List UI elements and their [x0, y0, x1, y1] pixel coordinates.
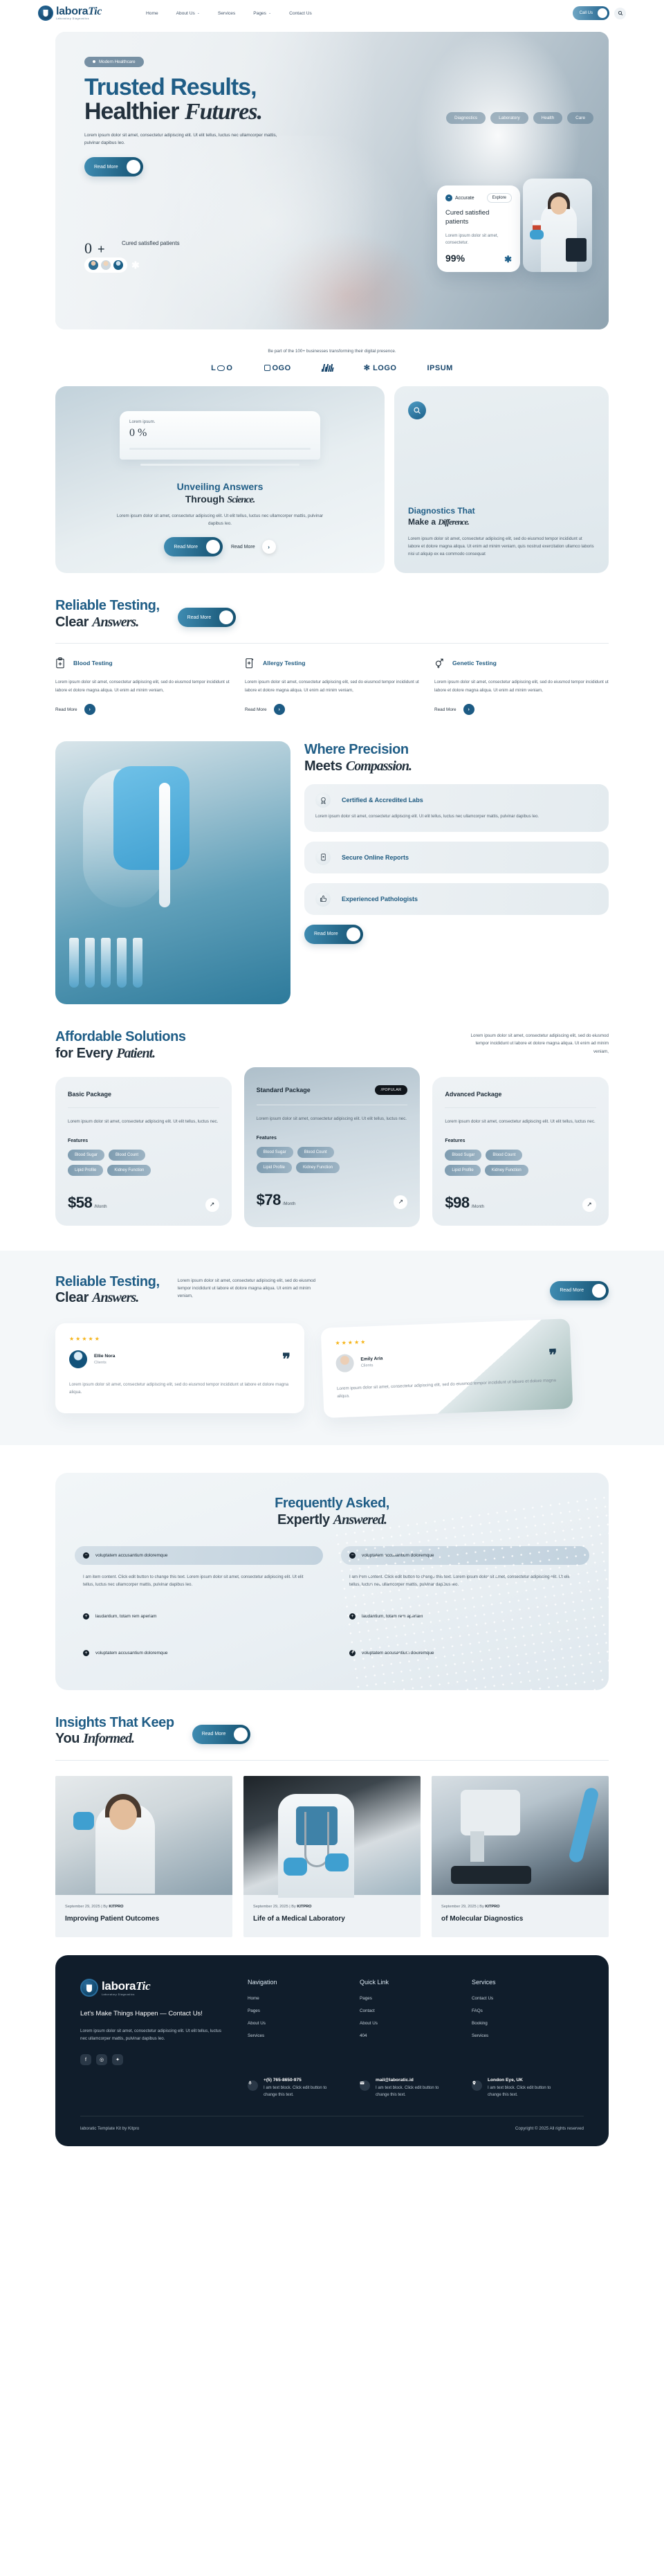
footer-link[interactable]: About Us: [360, 2021, 451, 2026]
nav-label: Contact Us: [289, 11, 312, 16]
plan-name: Basic Package: [68, 1091, 111, 1098]
divider: [68, 1107, 219, 1108]
plus-icon: +: [349, 1613, 356, 1620]
search-icon-badge: [408, 401, 426, 419]
plan-chips: Blood Sugar Blood Count Lipid Profile Ki…: [445, 1150, 559, 1176]
service-card-genetic-testing[interactable]: Genetic Testing Lorem ipsum dolor sit am…: [434, 657, 609, 715]
plan-desc: Lorem ipsum dolor sit amet, consectetur …: [68, 1118, 219, 1125]
testimonial-name: Emily Aria: [360, 1356, 382, 1361]
plan-footer: $78/Month ↗: [257, 1191, 408, 1209]
footer-link[interactable]: Pages: [248, 2008, 339, 2013]
hero-avatars: ✱: [84, 257, 180, 273]
logo-seal-icon: [38, 6, 53, 21]
footer-column-title: Quick Link: [360, 1979, 451, 1986]
faq-question-closed[interactable]: + voluptatem accusantium doloremque: [75, 1644, 323, 1662]
faq-title: Frequently Asked, Expertly Answered.: [75, 1495, 589, 1528]
hero-stat-number: 0: [84, 239, 92, 257]
mail-icon: [360, 2080, 370, 2091]
plan-footer: $58/Month ↗: [68, 1194, 219, 1212]
services-title-line2a: Clear: [55, 615, 92, 630]
search-button[interactable]: [614, 8, 626, 19]
brand-logo-3: [322, 364, 333, 372]
faq-question-closed[interactable]: + laudantium, totam rem aperiam: [341, 1607, 589, 1626]
testimonial-person: Ellie Nora Clients ❞: [69, 1350, 290, 1368]
blog-body: September 29, 2025 | By KITPRO Improving…: [55, 1895, 232, 1938]
faq-question-label: voluptatem accusantium doloremque: [362, 1553, 434, 1558]
accurate-card-percent: 99%: [445, 253, 465, 264]
minus-icon: −: [349, 1552, 356, 1559]
mini-panel-label: Lorem ipsum.: [129, 419, 311, 424]
document-plus-icon: [245, 657, 255, 669]
accurate-card-footer: 99% ✱: [445, 253, 512, 264]
testimonials-container: Reliable Testing, Clear Answers. Lorem i…: [55, 1274, 609, 1413]
faq-question-label: voluptatem accusantium doloremque: [95, 1651, 167, 1656]
nav-item-services[interactable]: Services: [218, 11, 235, 16]
image-microscope-arm: [470, 1831, 484, 1862]
hero-title-line2a: Healthier: [84, 98, 185, 125]
plan-price: $98: [445, 1194, 469, 1212]
mini-panel-value: 0 %: [129, 427, 311, 439]
logo[interactable]: laboraTic Laboratory Diagnostics: [38, 6, 102, 21]
button-label: Read More: [55, 707, 77, 712]
blog-list: September 29, 2025 | By KITPRO Improving…: [55, 1776, 609, 1938]
hero-tag-care[interactable]: Care: [567, 112, 593, 124]
faq-header: Frequently Asked, Expertly Answered.: [75, 1495, 589, 1528]
hero-tag-laboratory[interactable]: Laboratory: [490, 112, 528, 124]
plus-icon: +: [349, 1650, 356, 1656]
footer-link[interactable]: FAQs: [472, 2008, 563, 2013]
divider: [445, 1107, 596, 1108]
services-header: Reliable Testing, Clear Answers. Read Mo…: [55, 598, 609, 631]
footer-link[interactable]: Contact Us: [472, 1996, 563, 2001]
blog-image: [243, 1776, 421, 1895]
accurate-badge: ⌖ Accurate: [445, 194, 474, 201]
minus-icon: −: [83, 1552, 89, 1559]
footer-contacts: +(5) 765-8650-975 I am text block. Click…: [80, 2078, 584, 2099]
logo-tagline: Laboratory Diagnostics: [56, 18, 102, 20]
footer-socials: f ◎ ✦: [80, 2054, 227, 2065]
blog-card[interactable]: September 29, 2025 | By KITPRO of Molecu…: [432, 1776, 609, 1938]
pricing-title-line1: Affordable Solutions: [55, 1029, 186, 1044]
blog-title-line2a: You: [55, 1731, 83, 1746]
rating-stars: ★★★★★: [69, 1336, 290, 1342]
hero-title-line2b: Futures.: [185, 99, 262, 125]
testimonials-title-line2a: Clear: [55, 1290, 92, 1305]
call-us-button[interactable]: Call Us ›: [573, 6, 609, 20]
logo-name-main: labora: [56, 6, 88, 17]
precision-section: Where Precision Meets Compassion. Certif…: [55, 741, 609, 1004]
plan-price-row: $98/Month: [445, 1194, 484, 1212]
services-title: Reliable Testing, Clear Answers.: [55, 598, 160, 631]
faq-question-closed[interactable]: + voluptatem accusantium doloremque: [341, 1644, 589, 1662]
services-list: Blood Testing Lorem ipsum dolor sit amet…: [55, 657, 609, 715]
button-label: Read More: [231, 545, 255, 550]
blog-read-more-button[interactable]: Read More ›: [192, 1725, 251, 1744]
faq-question-closed[interactable]: + laudantium, totam rem aperiam: [75, 1607, 323, 1626]
plan-features-label: Features: [445, 1139, 596, 1143]
button-label: Read More: [187, 615, 212, 620]
diagnostics-card: Diagnostics That Make a Difference. Lore…: [394, 386, 609, 573]
arrow-right-icon: ›: [598, 8, 607, 18]
rating-stars: ★★★★★: [335, 1332, 556, 1346]
arrow-right-icon: ›: [219, 610, 233, 624]
footer-column-quick-link: Quick Link Pages Contact About Us 404: [360, 1979, 451, 2065]
hero-stat-plus: +: [98, 242, 105, 257]
footer-link[interactable]: Pages: [360, 1996, 451, 2001]
footer-link[interactable]: 404: [360, 2033, 451, 2038]
blog-card[interactable]: September 29, 2025 | By KITPRO Improving…: [55, 1776, 232, 1938]
brand-logo-4: ✻ LOGO: [364, 363, 397, 372]
blog-date: September 29, 2025: [253, 1905, 288, 1909]
photo-glove: [530, 230, 544, 239]
testimonials-lead: Lorem ipsum dolor sit amet, consectetur …: [178, 1274, 326, 1300]
logo-wordmark: laboraTic: [56, 6, 102, 17]
pricing-card-standard[interactable]: Standard Package /POPULAR Lorem ipsum do…: [244, 1067, 421, 1226]
plan-arrow-button[interactable]: ↗: [394, 1195, 407, 1209]
precision-image: [55, 741, 290, 1004]
footer-logo[interactable]: laboraTic Laboratory Diagnostics: [80, 1979, 227, 1997]
testimonial-card: ★★★★★ Emily Aria Clients ❞ Lorem ipsum d…: [321, 1318, 573, 1418]
footer-top: laboraTic Laboratory Diagnostics Let's M…: [80, 1979, 584, 2065]
footer-wordmark: laboraTic: [102, 1980, 150, 1992]
plan-desc: Lorem ipsum dolor sit amet, consectetur …: [257, 1115, 408, 1123]
footer-link[interactable]: Home: [248, 1996, 339, 2001]
faq-column-right: − voluptatem accusantium doloremque I am…: [341, 1546, 589, 1662]
brand-logo-5: IPSUM: [427, 364, 452, 372]
instagram-icon[interactable]: ◎: [96, 2054, 107, 2065]
plan-price: $58: [68, 1194, 92, 1212]
pricing-plans: Basic Package Lorem ipsum dolor sit amet…: [55, 1077, 609, 1226]
plan-price-row: $78/Month: [257, 1191, 296, 1209]
service-title: Allergy Testing: [263, 660, 305, 666]
contact-note: I am text block. Click edit button to ch…: [264, 2085, 339, 2099]
service-text: Lorem ipsum dolor sit amet, consectetur …: [55, 678, 230, 694]
twitter-icon[interactable]: ✦: [112, 2054, 123, 2065]
services-title-line1: Reliable Testing,: [55, 598, 160, 613]
logo-name-italic: Tic: [88, 6, 102, 17]
pricing-section: Affordable Solutions for Every Patient. …: [55, 1029, 609, 1226]
hero-read-more-button[interactable]: Read More ›: [84, 157, 143, 176]
precision-feature-reports[interactable]: Secure Online Reports: [304, 842, 609, 873]
faq-question-label: laudantium, totam rem aperiam: [95, 1614, 156, 1619]
explore-button[interactable]: Explore: [487, 193, 512, 203]
footer-contact-phone: +(5) 765-8650-975 I am text block. Click…: [248, 2078, 339, 2099]
blog-post-title[interactable]: Improving Patient Outcomes: [65, 1915, 223, 1924]
services-section: Reliable Testing, Clear Answers. Read Mo…: [55, 598, 609, 715]
testimonial-identity: Emily Aria Clients: [360, 1356, 383, 1368]
badge-dot-icon: [93, 60, 95, 63]
plan-arrow-button[interactable]: ↗: [582, 1198, 596, 1212]
service-header: Allergy Testing: [245, 657, 419, 669]
accurate-card-heading: Cured satisfied patients: [445, 209, 512, 227]
pricing-title: Affordable Solutions for Every Patient.: [55, 1029, 186, 1062]
unveiling-title: Unveiling Answers Through Science.: [72, 481, 368, 506]
image-face: [109, 1799, 137, 1830]
plan-chip: Kidney Function: [107, 1165, 151, 1176]
brand-logos-caption: Be part of the 100+ businesses transform…: [55, 349, 609, 354]
mobile-report-icon: [315, 850, 331, 865]
diagnostics-title: Diagnostics That Make a Difference.: [408, 506, 595, 527]
service-read-more[interactable]: Read More›: [245, 704, 419, 715]
quote-icon: ❞: [548, 1350, 557, 1360]
faq-column-left: − voluptatem accusantium doloremque I am…: [75, 1546, 323, 1662]
service-card-allergy-testing[interactable]: Allergy Testing Lorem ipsum dolor sit am…: [245, 657, 419, 715]
stat-mini-panel: Lorem ipsum. 0 %: [120, 411, 320, 460]
unveiling-title-line2b: Science.: [227, 495, 255, 505]
feature-header: Certified & Accredited Labs: [315, 792, 598, 808]
accurate-card-header: ⌖ Accurate Explore: [445, 193, 512, 203]
feature-title: Secure Online Reports: [342, 854, 409, 861]
button-label: Read More: [314, 932, 338, 936]
pricing-title-line2b: Patient.: [116, 1046, 155, 1061]
blog-post-title[interactable]: of Molecular Diagnostics: [441, 1915, 599, 1924]
testimonial-card: ★★★★★ Ellie Nora Clients ❞ Lorem ipsum d…: [55, 1323, 304, 1413]
hero-tag-health[interactable]: Health: [533, 112, 562, 124]
plan-arrow-button[interactable]: ↗: [205, 1198, 219, 1212]
service-header: Blood Testing: [55, 657, 230, 669]
footer-column-navigation: Navigation Home Pages About Us Services: [248, 1979, 339, 2065]
image-glove-left: [284, 1858, 307, 1876]
blog-author: KITPRO: [485, 1905, 499, 1909]
logo-text: laboraTic Laboratory Diagnostics: [56, 6, 102, 20]
service-read-more[interactable]: Read More›: [55, 704, 230, 715]
plan-chip: Kidney Function: [485, 1165, 528, 1176]
hero-scientist-photo: [523, 179, 592, 272]
plan-chip: Blood Count: [486, 1150, 522, 1161]
logo-seal-icon: [80, 1979, 98, 1997]
asterisk-icon: ✱: [504, 255, 512, 264]
faq-question-open[interactable]: − voluptatem accusantium doloremque: [341, 1546, 589, 1565]
service-text: Lorem ipsum dolor sit amet, consectetur …: [245, 678, 419, 694]
footer-tagline: Laboratory Diagnostics: [102, 1993, 150, 1996]
diagnostics-title-line2a: Make a: [408, 517, 438, 527]
testimonials-header: Reliable Testing, Clear Answers. Lorem i…: [55, 1274, 609, 1307]
main-nav: Home About Us⌄ Services Pages⌄ Contact U…: [146, 11, 312, 16]
blog-title-line2b: Informed.: [83, 1731, 134, 1746]
testimonials-list: ★★★★★ Ellie Nora Clients ❞ Lorem ipsum d…: [55, 1323, 609, 1413]
pricing-card-advanced[interactable]: Advanced Package Lorem ipsum dolor sit a…: [432, 1077, 609, 1225]
button-label: Read More: [202, 1732, 226, 1736]
hero-tag-diagnostics[interactable]: Diagnostics: [446, 112, 486, 124]
services-title-line2b: Answers.: [92, 615, 138, 630]
blog-section: Insights That Keep You Informed. Read Mo…: [55, 1715, 609, 1938]
contact-body: London Eye, UK I am text block. Click ed…: [488, 2078, 563, 2099]
precision-feature-pathologists[interactable]: Experienced Pathologists: [304, 883, 609, 915]
unveiling-read-more-primary[interactable]: Read More ›: [164, 537, 223, 556]
photo-face: [551, 197, 567, 215]
faq-question-label: voluptatem accusantium doloremque: [95, 1553, 167, 1558]
image-microscope-base: [451, 1866, 531, 1884]
avatar: [113, 260, 124, 271]
gender-icon: [434, 657, 444, 669]
blog-date: September 29, 2025: [441, 1905, 477, 1909]
faq-title-line2a: Expertly: [277, 1512, 333, 1527]
chevron-down-icon: ⌄: [197, 11, 200, 15]
feature-header: Experienced Pathologists: [315, 891, 598, 907]
blog-body: September 29, 2025 | By KITPRO Life of a…: [243, 1895, 421, 1938]
service-text: Lorem ipsum dolor sit amet, consectetur …: [434, 678, 609, 694]
plan-chip: Kidney Function: [296, 1162, 340, 1173]
service-read-more[interactable]: Read More›: [434, 704, 609, 715]
blog-sep: | By: [101, 1905, 109, 1909]
image-microscope-body: [461, 1790, 520, 1835]
nav-item-pages[interactable]: Pages⌄: [253, 11, 271, 16]
pricing-header: Affordable Solutions for Every Patient. …: [55, 1029, 609, 1062]
services-read-more-button[interactable]: Read More ›: [178, 608, 237, 627]
blog-meta: September 29, 2025 | By KITPRO: [253, 1905, 411, 1909]
testimonials-title-line2b: Answers.: [92, 1290, 138, 1305]
brand-logo-1: LO: [211, 364, 234, 372]
unveiling-button-row: Read More › Read More ›: [72, 537, 368, 556]
facebook-icon[interactable]: f: [80, 2054, 91, 2065]
service-title: Blood Testing: [73, 660, 113, 666]
feature-header: Secure Online Reports: [315, 850, 598, 865]
avatar-group: [84, 257, 127, 273]
testimonials-title: Reliable Testing, Clear Answers.: [55, 1274, 160, 1307]
service-header: Genetic Testing: [434, 657, 609, 669]
blog-title: Insights That Keep You Informed.: [55, 1715, 174, 1748]
testimonial-name: Ellie Nora: [94, 1354, 115, 1359]
button-label: Read More: [245, 707, 267, 712]
target-icon: ⌖: [445, 194, 452, 201]
footer-contact-location: London Eye, UK I am text block. Click ed…: [472, 2078, 563, 2099]
contact-note: I am text block. Click edit button to ch…: [376, 2085, 451, 2099]
plan-chip: Lipid Profile: [257, 1162, 292, 1173]
blog-image: [432, 1776, 609, 1895]
feature-title: Experienced Pathologists: [342, 896, 418, 902]
image-pipette: [568, 1786, 600, 1864]
brand-logo-2: OGO: [264, 364, 290, 372]
diagnostics-title-line2b: Difference.: [438, 517, 468, 527]
blog-header: Insights That Keep You Informed. Read Mo…: [55, 1715, 609, 1748]
footer-link[interactable]: Services: [472, 2033, 563, 2038]
mini-panel-bar-secondary: [140, 464, 299, 466]
plan-chip: Lipid Profile: [68, 1165, 103, 1176]
testimonial-quote: Lorem ipsum dolor sit amet, consectetur …: [69, 1381, 290, 1397]
arrow-right-icon: ›: [84, 704, 95, 715]
arrow-right-icon: ›: [347, 927, 360, 941]
arrow-right-icon: ›: [592, 1284, 606, 1298]
footer-link[interactable]: Services: [248, 2033, 339, 2038]
unveiling-read-more-secondary[interactable]: Read More ›: [231, 540, 276, 554]
contact-body: mail@laboratic.id I am text block. Click…: [376, 2078, 451, 2099]
blog-post-title[interactable]: Life of a Medical Laboratory: [253, 1915, 411, 1924]
image-pipette: [159, 783, 170, 907]
blog-body: September 29, 2025 | By KITPRO of Molecu…: [432, 1895, 609, 1938]
plan-header: Standard Package /POPULAR: [257, 1085, 408, 1095]
plan-chip: Blood Sugar: [445, 1150, 481, 1161]
contact-body: +(5) 765-8650-975 I am text block. Click…: [264, 2078, 339, 2099]
footer-column-title: Navigation: [248, 1979, 339, 1986]
contact-value[interactable]: +(5) 765-8650-975: [264, 2078, 339, 2083]
divider: [257, 1105, 408, 1105]
arrow-right-icon: ›: [262, 540, 276, 554]
plan-chip: Blood Count: [109, 1150, 145, 1161]
contact-value[interactable]: London Eye, UK: [488, 2078, 563, 2083]
testimonial-person: Emily Aria Clients ❞: [335, 1346, 557, 1372]
hero-content: Modern Healthcare Trusted Results, Healt…: [55, 32, 609, 176]
unveiling-answers-card: Lorem ipsum. 0 % Unveiling Answers Throu…: [55, 386, 385, 573]
footer-brand: laboraTic Laboratory Diagnostics Let's M…: [80, 1979, 227, 2065]
avatar: [69, 1350, 87, 1368]
contact-note: I am text block. Click edit button to ch…: [488, 2085, 563, 2099]
blog-sep: | By: [289, 1905, 297, 1909]
asterisk-icon: ✱: [131, 260, 140, 270]
footer-contact-mail: mail@laboratic.id I am text block. Click…: [360, 2078, 451, 2099]
footer-link[interactable]: Contact: [360, 2008, 451, 2013]
call-us-label: Call Us: [580, 11, 593, 15]
clipboard-plus-icon: [55, 657, 65, 669]
feature-text: Lorem ipsum dolor sit amet, consectetur …: [315, 813, 598, 821]
blog-card[interactable]: September 29, 2025 | By KITPRO Life of a…: [243, 1776, 421, 1938]
plan-desc: Lorem ipsum dolor sit amet, consectetur …: [445, 1118, 596, 1125]
arrow-right-icon: ›: [206, 540, 220, 554]
avatar: [88, 260, 99, 271]
mini-panel-bar: [129, 448, 311, 450]
unveiling-paragraph: Lorem ipsum dolor sit amet, consectetur …: [116, 512, 324, 527]
image-test-tubes: [69, 938, 142, 988]
plan-chip: Blood Count: [297, 1147, 334, 1158]
testimonials-read-more-button[interactable]: Read More ›: [550, 1281, 609, 1300]
precision-title: Where Precision Meets Compassion.: [304, 741, 609, 774]
plan-period: /Month: [472, 1205, 484, 1209]
footer-link[interactable]: Booking: [472, 2021, 563, 2026]
blog-author: KITPRO: [297, 1905, 311, 1909]
plan-name: Standard Package: [257, 1087, 311, 1094]
precision-title-line2b: Compassion.: [346, 759, 412, 774]
faq-section: Frequently Asked, Expertly Answered. − v…: [55, 1473, 609, 1690]
nav-item-home[interactable]: Home: [146, 11, 158, 16]
testimonial-identity: Ellie Nora Clients: [94, 1354, 115, 1365]
blog-sep: | By: [477, 1905, 485, 1909]
faq-answer: I am item content. Click edit button to …: [341, 1573, 589, 1589]
avatar: [100, 260, 111, 271]
button-label: Read More: [560, 1288, 584, 1293]
nav-item-about-us[interactable]: About Us⌄: [176, 11, 200, 16]
photo-clipboard: [566, 238, 587, 262]
hero-badge: Modern Healthcare: [84, 57, 144, 67]
footer-credit: laboratic Template Kit by Kitpro: [80, 2126, 139, 2131]
faq-question-label: voluptatem accusantium doloremque: [362, 1651, 434, 1656]
nav-item-contact-us[interactable]: Contact Us: [289, 11, 312, 16]
plan-header: Advanced Package: [445, 1091, 596, 1098]
faq-title-line2b: Answered.: [333, 1512, 387, 1527]
quote-icon: ❞: [282, 1354, 290, 1363]
search-icon: [618, 10, 623, 16]
precision-feature-certified[interactable]: Certified & Accredited Labs Lorem ipsum …: [304, 784, 609, 832]
plan-price-row: $58/Month: [68, 1194, 107, 1212]
plan-period: /Month: [94, 1205, 107, 1209]
plan-chip: Blood Sugar: [68, 1150, 104, 1161]
faq-question-open[interactable]: − voluptatem accusantium doloremque: [75, 1546, 323, 1565]
footer-paragraph: Lorem ipsum dolor sit amet, consectetur …: [80, 2027, 227, 2044]
service-card-blood-testing[interactable]: Blood Testing Lorem ipsum dolor sit amet…: [55, 657, 230, 715]
contact-value[interactable]: mail@laboratic.id: [376, 2078, 451, 2083]
hero-cta-label: Read More: [94, 165, 118, 170]
arrow-right-icon: ›: [463, 704, 474, 715]
divider: [55, 643, 609, 644]
chevron-down-icon: ⌄: [268, 11, 271, 15]
precision-read-more-button[interactable]: Read More ›: [304, 925, 363, 944]
arrow-right-icon: ›: [274, 704, 285, 715]
award-icon: [315, 792, 331, 808]
button-label: Read More: [174, 545, 198, 550]
header-actions: Call Us ›: [573, 6, 626, 20]
plan-period: /Month: [283, 1202, 295, 1206]
footer-column-services: Services Contact Us FAQs Booking Service…: [472, 1979, 563, 2065]
pricing-card-basic[interactable]: Basic Package Lorem ipsum dolor sit amet…: [55, 1077, 232, 1225]
footer-link[interactable]: About Us: [248, 2021, 339, 2026]
